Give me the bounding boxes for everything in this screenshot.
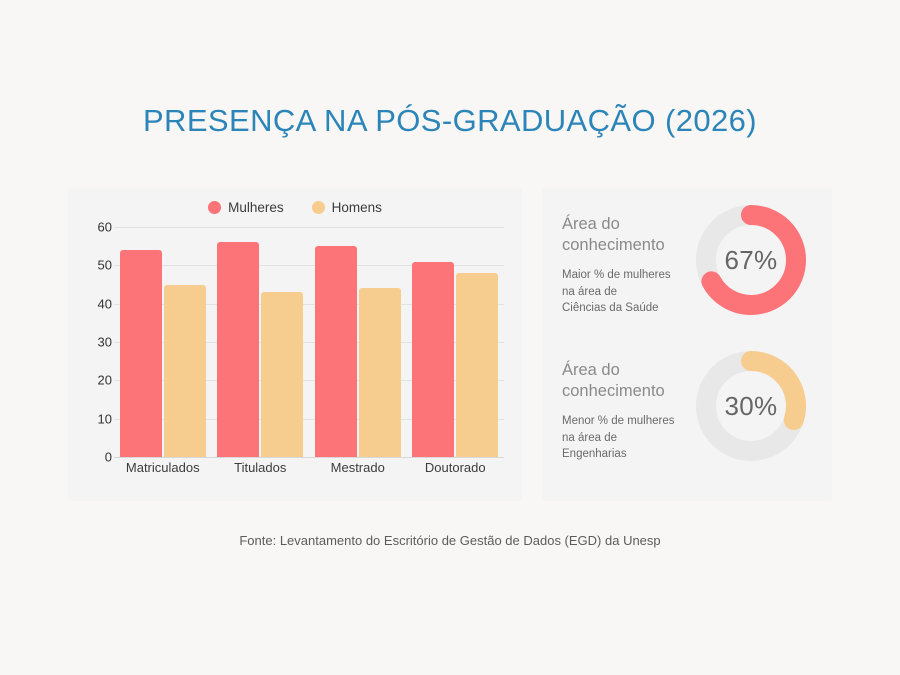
gridline: [114, 457, 504, 458]
knowledge-area-panel: Área do conhecimento Maior % de mulheres…: [542, 188, 832, 501]
bar-mestrado-mulheres[interactable]: [315, 246, 357, 457]
card-text-block: Área do conhecimento Maior % de mulheres…: [562, 214, 702, 316]
legend-item-mulheres[interactable]: Mulheres: [208, 200, 284, 215]
bar-titulados-homens[interactable]: [261, 292, 303, 457]
legend-item-homens[interactable]: Homens: [312, 200, 382, 215]
bar-titulados-mulheres[interactable]: [217, 242, 259, 457]
y-axis-tick-label: 10: [78, 411, 112, 426]
bar-group: [309, 227, 407, 457]
bar-matriculados-homens[interactable]: [164, 285, 206, 458]
bar-groups: [114, 227, 504, 457]
card-subtitle: Menor % de mulheres na área de Engenhari…: [562, 413, 702, 462]
donut-chart-health: 67%: [696, 205, 806, 315]
bar-group: [212, 227, 310, 457]
knowledge-area-card-engineering: Área do conhecimento Menor % de mulheres…: [542, 334, 832, 490]
card-text-block: Área do conhecimento Menor % de mulheres…: [562, 360, 702, 462]
donut-chart-engineering: 30%: [696, 351, 806, 461]
source-note: Fonte: Levantamento do Escritório de Ges…: [0, 533, 900, 548]
knowledge-area-card-health: Área do conhecimento Maior % de mulheres…: [542, 188, 832, 344]
legend-label-homens: Homens: [332, 200, 382, 215]
legend-dot-icon: [312, 201, 325, 214]
bar-doutorado-homens[interactable]: [456, 273, 498, 457]
y-axis-tick-label: 0: [78, 450, 112, 465]
y-axis-tick-label: 60: [78, 220, 112, 235]
bar-group: [407, 227, 505, 457]
y-axis-tick-label: 20: [78, 373, 112, 388]
bar-matriculados-mulheres[interactable]: [120, 250, 162, 457]
bar-group: [114, 227, 212, 457]
y-axis-tick-label: 30: [78, 335, 112, 350]
x-axis-tick-label: Matriculados: [114, 460, 212, 475]
bar-mestrado-homens[interactable]: [359, 288, 401, 457]
x-axis-tick-label: Titulados: [212, 460, 310, 475]
page-title: PRESENÇA NA PÓS-GRADUAÇÃO (2026): [0, 103, 900, 139]
card-heading: Área do conhecimento: [562, 214, 702, 256]
legend-label-mulheres: Mulheres: [228, 200, 284, 215]
donut-value-health: 67%: [696, 205, 806, 315]
x-axis-tick-label: Mestrado: [309, 460, 407, 475]
y-axis-tick-label: 50: [78, 258, 112, 273]
x-axis-labels: MatriculadosTituladosMestradoDoutorado: [114, 460, 504, 475]
bar-doutorado-mulheres[interactable]: [412, 262, 454, 458]
card-heading: Área do conhecimento: [562, 360, 702, 402]
x-axis-tick-label: Doutorado: [407, 460, 505, 475]
infographic-canvas: PRESENÇA NA PÓS-GRADUAÇÃO (2026) Mulhere…: [0, 0, 900, 675]
y-axis-tick-label: 40: [78, 296, 112, 311]
chart-plot-area: 6050403020100: [114, 227, 504, 457]
chart-legend: Mulheres Homens: [68, 200, 522, 215]
card-subtitle: Maior % de mulheres na área de Ciências …: [562, 267, 702, 316]
legend-dot-icon: [208, 201, 221, 214]
donut-value-engineering: 30%: [696, 351, 806, 461]
bar-chart-panel: Mulheres Homens 6050403020100 Matriculad…: [68, 188, 522, 501]
